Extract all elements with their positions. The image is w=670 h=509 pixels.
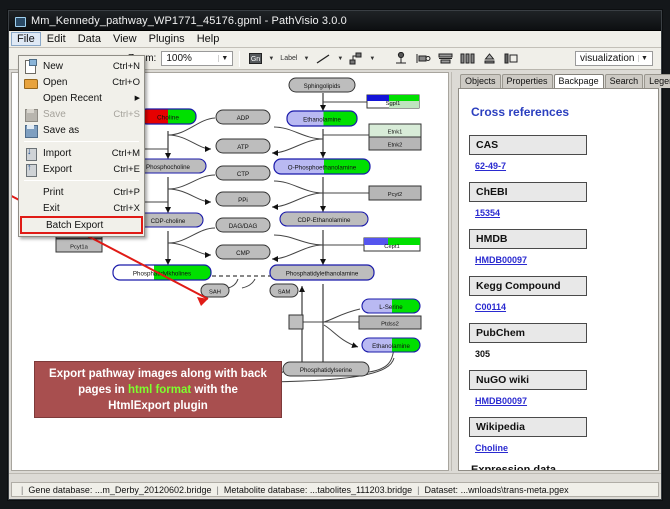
svg-text:CMP: CMP bbox=[236, 250, 250, 257]
svg-text:SAH: SAH bbox=[209, 290, 221, 296]
gene-database-value: ...m_Derby_20120602.bridge bbox=[95, 485, 212, 495]
file-menu-item-print[interactable]: Print Ctrl+P bbox=[19, 184, 144, 200]
node-pcyt1a: Pcyt1a bbox=[56, 239, 102, 252]
node-phosphatidylethanolamine: Phosphatidylethanolamine bbox=[270, 265, 374, 280]
file-menu-divider-1 bbox=[24, 141, 139, 142]
file-menu-exit-label: Exit bbox=[43, 203, 107, 214]
chevron-down-icon: ▼ bbox=[638, 55, 650, 62]
svg-text:CDP-Ethanolamine: CDP-Ethanolamine bbox=[298, 217, 352, 224]
node-ppi: PPi bbox=[216, 192, 270, 206]
title-bar: Mm_Kennedy_pathway_WP1771_45176.gpml - P… bbox=[9, 11, 661, 31]
file-menu-batch-export-label: Batch Export bbox=[46, 220, 137, 231]
align-left-icon[interactable] bbox=[413, 50, 433, 68]
file-menu-print-label: Print bbox=[43, 187, 107, 198]
node-dag-dag: DAG/DAG bbox=[216, 218, 270, 232]
node-etnk2: Etnk2 bbox=[369, 137, 421, 150]
save-disk-icon bbox=[23, 108, 39, 121]
annotation-line2-pre: pages in bbox=[78, 384, 128, 396]
xref-value-hmdb: HMDB00097 bbox=[475, 255, 648, 265]
status-bar: | Gene database: ...m_Derby_20120602.bri… bbox=[9, 473, 661, 499]
file-menu-open-shortcut: Ctrl+O bbox=[112, 77, 140, 88]
export-icon bbox=[23, 163, 39, 176]
file-menu-exit-shortcut: Ctrl+X bbox=[113, 203, 140, 214]
node-phosphatidylcholines: Phosphatidylkholines bbox=[113, 265, 211, 280]
xref-value-chebi: 15354 bbox=[475, 208, 648, 218]
tab-legend[interactable]: Legend bbox=[644, 74, 670, 88]
node-l-serine: L-Serine bbox=[362, 299, 420, 313]
node-sah: SAH bbox=[201, 284, 229, 297]
tab-search[interactable]: Search bbox=[605, 74, 644, 88]
xref-header-kegg-compound: Kegg Compound bbox=[469, 276, 587, 296]
svg-text:Ethanolamine: Ethanolamine bbox=[303, 117, 341, 124]
status-text-area: | Gene database: ...m_Derby_20120602.bri… bbox=[11, 482, 659, 497]
file-menu-open-label: Open bbox=[43, 77, 106, 88]
svg-text:DAG/DAG: DAG/DAG bbox=[229, 223, 258, 230]
annotation-line2-post: with the bbox=[191, 384, 238, 396]
svg-text:Pcyt2: Pcyt2 bbox=[388, 192, 403, 198]
node-ptdss2: Ptdss2 bbox=[359, 316, 421, 329]
pathvisio-app-icon bbox=[14, 15, 26, 27]
file-menu-open-recent-label: Open Recent bbox=[43, 93, 135, 104]
svg-text:Phosphocholine: Phosphocholine bbox=[146, 164, 191, 171]
nugo-link[interactable]: HMDB00097 bbox=[475, 396, 527, 406]
file-menu-item-batch-export[interactable]: Batch Export bbox=[20, 216, 143, 234]
visualization-combobox[interactable]: visualization ▼ bbox=[575, 51, 653, 66]
backpage-panel[interactable]: Cross references CAS 62-49-7 ChEBI 15354… bbox=[458, 88, 659, 471]
menu-data[interactable]: Data bbox=[72, 32, 107, 46]
xref-value-wikipedia: Choline bbox=[475, 443, 648, 453]
file-menu-new-shortcut: Ctrl+N bbox=[113, 61, 140, 72]
xref-header-nugo-wiki: NuGO wiki bbox=[469, 370, 587, 390]
open-folder-icon bbox=[23, 76, 39, 89]
svg-text:Pcyt1a: Pcyt1a bbox=[70, 245, 88, 251]
xref-header-hmdb: HMDB bbox=[469, 229, 587, 249]
svg-text:Ptdss2: Ptdss2 bbox=[381, 322, 399, 328]
blank-icon bbox=[23, 186, 39, 199]
file-menu-item-exit[interactable]: Exit Ctrl+X bbox=[19, 200, 144, 216]
pathvisio-window: Mm_Kennedy_pathway_WP1771_45176.gpml - P… bbox=[8, 10, 662, 500]
annotation-line-2: pages in html format with the bbox=[78, 382, 238, 398]
svg-text:ADP: ADP bbox=[237, 115, 250, 122]
xref-value-kegg-compound: C00114 bbox=[475, 302, 648, 312]
node-ctp: CTP bbox=[216, 166, 270, 180]
node-ethanolamine-top: Ethanolamine bbox=[287, 111, 357, 126]
metabolite-database-label: Metabolite database: bbox=[224, 485, 308, 495]
file-menu-item-import[interactable]: Import Ctrl+M bbox=[19, 145, 144, 161]
xref-header-pubchem: PubChem bbox=[469, 323, 587, 343]
file-menu-divider-2 bbox=[24, 180, 139, 181]
file-menu-new-label: New bbox=[43, 61, 107, 72]
svg-text:Choline: Choline bbox=[157, 115, 179, 122]
annotation-callout: Export pathway images along with back pa… bbox=[34, 361, 282, 418]
svg-text:CDP-choline: CDP-choline bbox=[151, 218, 186, 225]
annotation-line-1: Export pathway images along with back bbox=[49, 366, 267, 382]
status-divider: | bbox=[412, 485, 424, 495]
node-etnk1: Etnk1 bbox=[369, 124, 421, 137]
xref-value-cas: 62-49-7 bbox=[475, 161, 648, 171]
dataset-value: ...wnloads\trans-meta.pgex bbox=[461, 485, 569, 495]
node-cdp-ethanolamine: CDP-Ethanolamine bbox=[280, 212, 368, 226]
blank-icon bbox=[23, 202, 39, 215]
file-menu-item-export[interactable]: Export Ctrl+E bbox=[19, 161, 144, 177]
svg-text:Ethanolamine: Ethanolamine bbox=[372, 343, 410, 350]
svg-text:CTP: CTP bbox=[237, 171, 249, 178]
hmdb-link[interactable]: HMDB00097 bbox=[475, 255, 527, 265]
xref-header-cas: CAS bbox=[469, 135, 587, 155]
file-menu-import-shortcut: Ctrl+M bbox=[112, 148, 140, 159]
svg-text:Phosphatidylethanolamine: Phosphatidylethanolamine bbox=[286, 271, 359, 278]
node-sam: SAM bbox=[270, 284, 298, 297]
menu-help[interactable]: Help bbox=[191, 32, 226, 46]
file-menu-save-shortcut: Ctrl+S bbox=[113, 109, 140, 120]
node-sphingolipids: Sphingolipids bbox=[289, 78, 355, 92]
file-menu-export-shortcut: Ctrl+E bbox=[113, 164, 140, 175]
node-atp: ATP bbox=[216, 139, 270, 153]
xref-value-nugo-wiki: HMDB00097 bbox=[475, 396, 648, 406]
tab-backpage[interactable]: Backpage bbox=[554, 74, 604, 89]
screenshot-root: Mm_Kennedy_pathway_WP1771_45176.gpml - P… bbox=[0, 0, 670, 509]
interaction-tool-icon[interactable] bbox=[347, 50, 365, 68]
xref-value-pubchem: 305 bbox=[475, 349, 648, 359]
kegg-link[interactable]: C00114 bbox=[475, 302, 506, 312]
node-adp: ADP bbox=[216, 110, 270, 124]
align-center-icon[interactable] bbox=[436, 50, 455, 68]
file-menu-item-save: Save Ctrl+S bbox=[19, 106, 144, 122]
svg-text:Phosphatidylserine: Phosphatidylserine bbox=[300, 367, 353, 374]
toolbar-separator bbox=[239, 51, 240, 67]
status-divider: | bbox=[212, 485, 224, 495]
svg-text:PPi: PPi bbox=[238, 197, 248, 204]
menu-view[interactable]: View bbox=[107, 32, 143, 46]
save-as-icon bbox=[23, 124, 39, 137]
chevron-down-icon: ▼ bbox=[218, 55, 230, 62]
cas-link[interactable]: 62-49-7 bbox=[475, 161, 506, 171]
svg-text:Etnk1: Etnk1 bbox=[388, 130, 403, 136]
datanode-tool-icon[interactable]: Gn bbox=[246, 50, 264, 68]
zoom-value: 100% bbox=[166, 53, 218, 64]
svg-text:Sgpl1: Sgpl1 bbox=[386, 101, 401, 107]
node-phosphatidylserine: Phosphatidylserine bbox=[283, 362, 369, 376]
menu-plugins[interactable]: Plugins bbox=[143, 32, 191, 46]
line-dropdown-icon[interactable]: ▼ bbox=[336, 56, 344, 62]
node-cmp: CMP bbox=[216, 245, 270, 259]
svg-text:Etnk2: Etnk2 bbox=[388, 143, 403, 149]
window-title: Mm_Kennedy_pathway_WP1771_45176.gpml - P… bbox=[31, 15, 347, 27]
file-menu-dropdown[interactable]: New Ctrl+N Open Ctrl+O Open Recent ▶ Sav… bbox=[18, 55, 145, 237]
menu-file[interactable]: File bbox=[11, 32, 41, 46]
xref-header-wikipedia: Wikipedia bbox=[469, 417, 587, 437]
file-menu-export-label: Export bbox=[43, 164, 107, 175]
svg-text:Cept1: Cept1 bbox=[384, 244, 399, 250]
svg-text:Gn: Gn bbox=[251, 56, 260, 63]
menu-bar: File Edit Data View Plugins Help bbox=[9, 31, 661, 48]
file-menu-item-new[interactable]: New Ctrl+N bbox=[19, 58, 144, 74]
tab-properties[interactable]: Properties bbox=[502, 74, 553, 88]
wikipedia-link[interactable]: Choline bbox=[475, 443, 508, 453]
tab-objects[interactable]: Objects bbox=[460, 74, 501, 88]
distribute-icon[interactable] bbox=[458, 50, 477, 68]
blank-icon bbox=[26, 219, 42, 232]
gene-database-label: Gene database: bbox=[28, 485, 92, 495]
label-dropdown-icon[interactable]: ▼ bbox=[302, 56, 310, 62]
file-menu-import-label: Import bbox=[43, 148, 106, 159]
visualization-value: visualization bbox=[580, 53, 638, 64]
menu-edit[interactable]: Edit bbox=[41, 32, 72, 46]
file-menu-print-shortcut: Ctrl+P bbox=[113, 187, 140, 198]
label-tool-button[interactable]: Label bbox=[278, 50, 299, 68]
node-o-phosphoethanolamine: O-Phosphoethanolamine bbox=[274, 159, 370, 174]
annotation-line-3: HtmlExport plugin bbox=[108, 398, 208, 414]
metabolite-database-value: ...tabolites_111203.bridge bbox=[310, 485, 412, 495]
stack-icon[interactable] bbox=[480, 50, 499, 68]
import-icon bbox=[23, 147, 39, 160]
zorder-icon[interactable] bbox=[502, 50, 521, 68]
annotation-highlight: html format bbox=[128, 384, 191, 396]
svg-text:O-Phosphoethanolamine: O-Phosphoethanolamine bbox=[288, 165, 357, 172]
file-menu-item-open-recent[interactable]: Open Recent ▶ bbox=[19, 90, 144, 106]
submenu-arrow-icon: ▶ bbox=[135, 94, 140, 102]
svg-text:Sphingolipids: Sphingolipids bbox=[304, 83, 341, 90]
horizontal-scrollbar[interactable] bbox=[9, 474, 661, 482]
file-menu-save-as-label: Save as bbox=[43, 125, 140, 136]
svg-text:SAM: SAM bbox=[278, 290, 291, 296]
interaction-dropdown-icon[interactable]: ▼ bbox=[368, 56, 376, 62]
node-cept1: Cept1 bbox=[364, 238, 420, 251]
file-menu-item-open[interactable]: Open Ctrl+O bbox=[19, 74, 144, 90]
dataset-label: Dataset: bbox=[425, 485, 459, 495]
sidebar-tabstrip: Objects Properties Backpage Search Legen… bbox=[452, 72, 659, 88]
node-sgpl1: Sgpl1 bbox=[367, 95, 419, 108]
file-menu-save-label: Save bbox=[43, 109, 107, 120]
zoom-combobox[interactable]: 100% ▼ bbox=[161, 51, 233, 66]
status-divider: | bbox=[16, 485, 28, 495]
file-menu-item-save-as[interactable]: Save as bbox=[19, 122, 144, 138]
svg-text:ATP: ATP bbox=[237, 144, 249, 151]
node-pcyt2: Pcyt2 bbox=[369, 186, 421, 200]
datanode-dropdown-icon[interactable]: ▼ bbox=[267, 56, 275, 62]
blank-icon bbox=[23, 92, 39, 105]
node-choline-top: Choline bbox=[140, 109, 196, 124]
line-tool-icon[interactable] bbox=[313, 50, 333, 68]
align-top-icon[interactable] bbox=[392, 50, 410, 68]
xref-header-chebi: ChEBI bbox=[469, 182, 587, 202]
sidebar: Objects Properties Backpage Search Legen… bbox=[451, 72, 659, 471]
new-file-icon bbox=[23, 60, 39, 73]
chebi-link[interactable]: 15354 bbox=[475, 208, 500, 218]
expression-data-heading: Expression data bbox=[471, 464, 648, 471]
svg-text:L-Serine: L-Serine bbox=[379, 304, 403, 311]
node-ethanolamine-bottom: Ethanolamine bbox=[362, 338, 420, 352]
cross-references-title: Cross references bbox=[471, 105, 648, 119]
